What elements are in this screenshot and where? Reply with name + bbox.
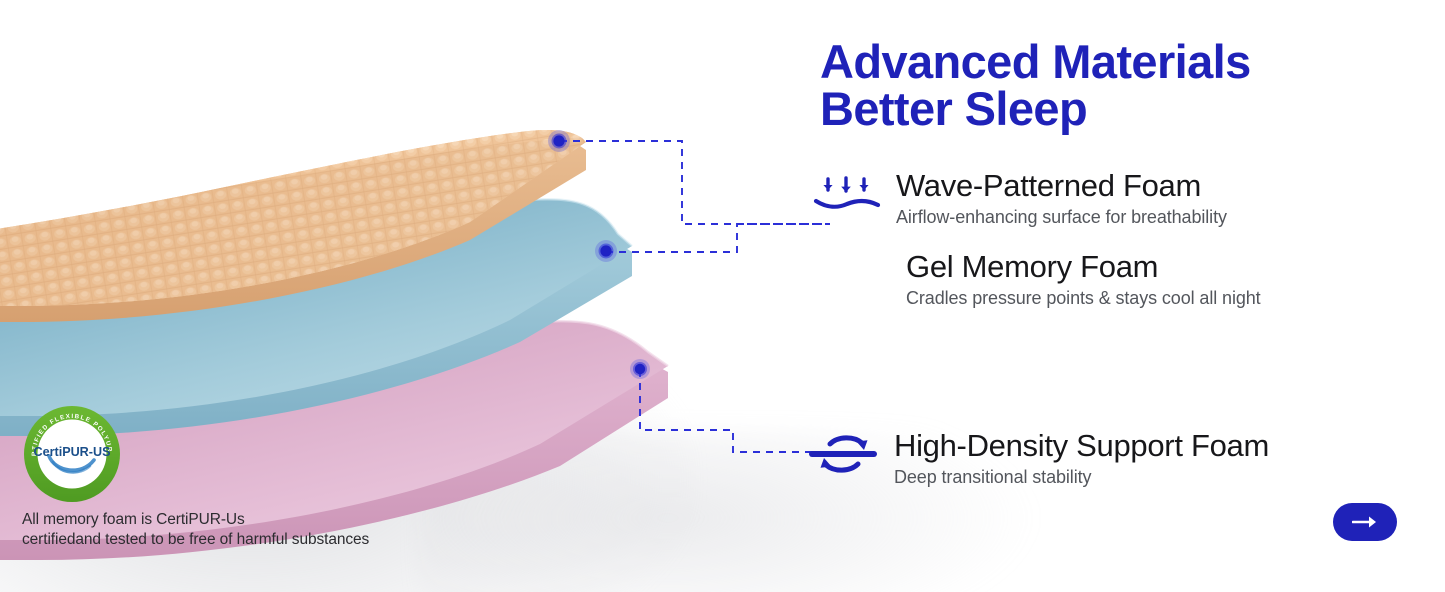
feature-subtitle: Airflow-enhancing surface for breathabil… xyxy=(896,205,1227,229)
feature-icon-placeholder xyxy=(808,253,896,297)
feature-item-gel-memory-foam: Gel Memory Foam Cradles pressure points … xyxy=(808,249,1261,310)
feature-item-high-density-support-foam: High-Density Support Foam Deep transitio… xyxy=(806,428,1269,489)
feature-title: Wave-Patterned Foam xyxy=(896,168,1201,203)
airflow-wave-icon xyxy=(808,172,886,216)
feature-text-block: High-Density Support Foam Deep transitio… xyxy=(894,428,1269,489)
next-slide-button[interactable] xyxy=(1333,503,1397,541)
feature-subtitle: Deep transitional stability xyxy=(894,465,1269,489)
promo-banner: Advanced Materials Better Sleep Wav xyxy=(0,0,1445,592)
certipur-caption: All memory foam is CertiPUR-Us certified… xyxy=(22,510,369,550)
feature-title: Gel Memory Foam xyxy=(906,249,1158,284)
certipur-us-badge: CONTAINS CERTIFIED FLEXIBLE POLYURETHANE… xyxy=(22,404,122,504)
compression-cycle-icon xyxy=(806,432,884,476)
feature-text-block: Gel Memory Foam Cradles pressure points … xyxy=(906,249,1261,310)
feature-text-block: Wave-Patterned Foam Airflow-enhancing su… xyxy=(896,168,1227,229)
feature-item-wave-patterned-foam: Wave-Patterned Foam Airflow-enhancing su… xyxy=(808,168,1227,229)
arrow-right-icon xyxy=(1352,515,1378,529)
feature-subtitle: Cradles pressure points & stays cool all… xyxy=(906,286,1261,310)
page-title: Advanced Materials Better Sleep xyxy=(820,38,1251,132)
feature-title: High-Density Support Foam xyxy=(894,428,1269,463)
badge-center-text: CertiPUR-US xyxy=(34,445,111,459)
